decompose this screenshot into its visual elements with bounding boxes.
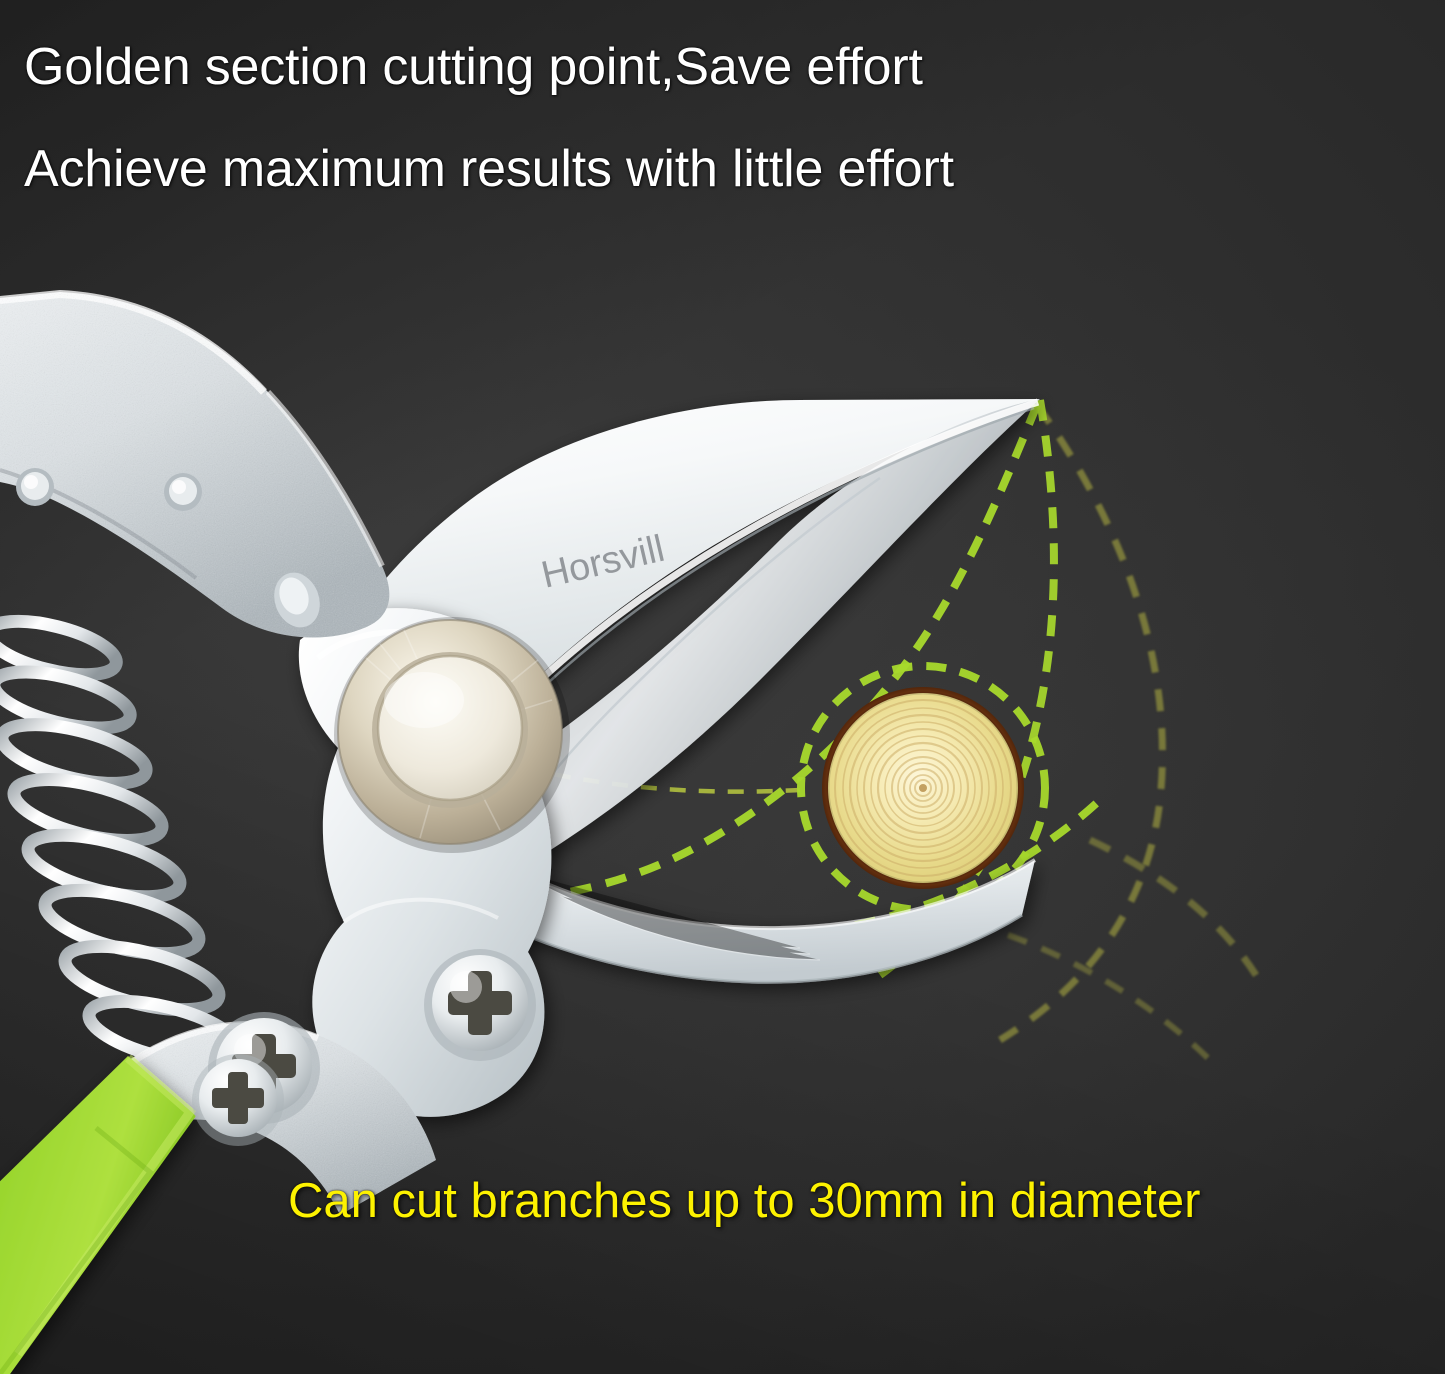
phillips-screw-grip [192,1054,284,1146]
phillips-screw-right [424,949,536,1061]
headline-line-2: Achieve maximum results with little effo… [24,118,1264,220]
product-marketing-image: Horsvill [0,0,1445,1374]
handle-rivet-1 [16,468,54,506]
headline-block: Golden section cutting point,Save effort… [24,16,1264,220]
handle-rivet-2 [164,473,202,511]
headline-line-1: Golden section cutting point,Save effort [24,16,1264,118]
wood-log-cross-section [822,687,1024,889]
pivot-bolt [334,617,570,853]
green-grip [0,1056,196,1374]
upper-handle-arm [0,292,389,638]
bottom-caption: Can cut branches up to 30mm in diameter [288,1173,1200,1229]
coil-spring [0,611,245,1075]
